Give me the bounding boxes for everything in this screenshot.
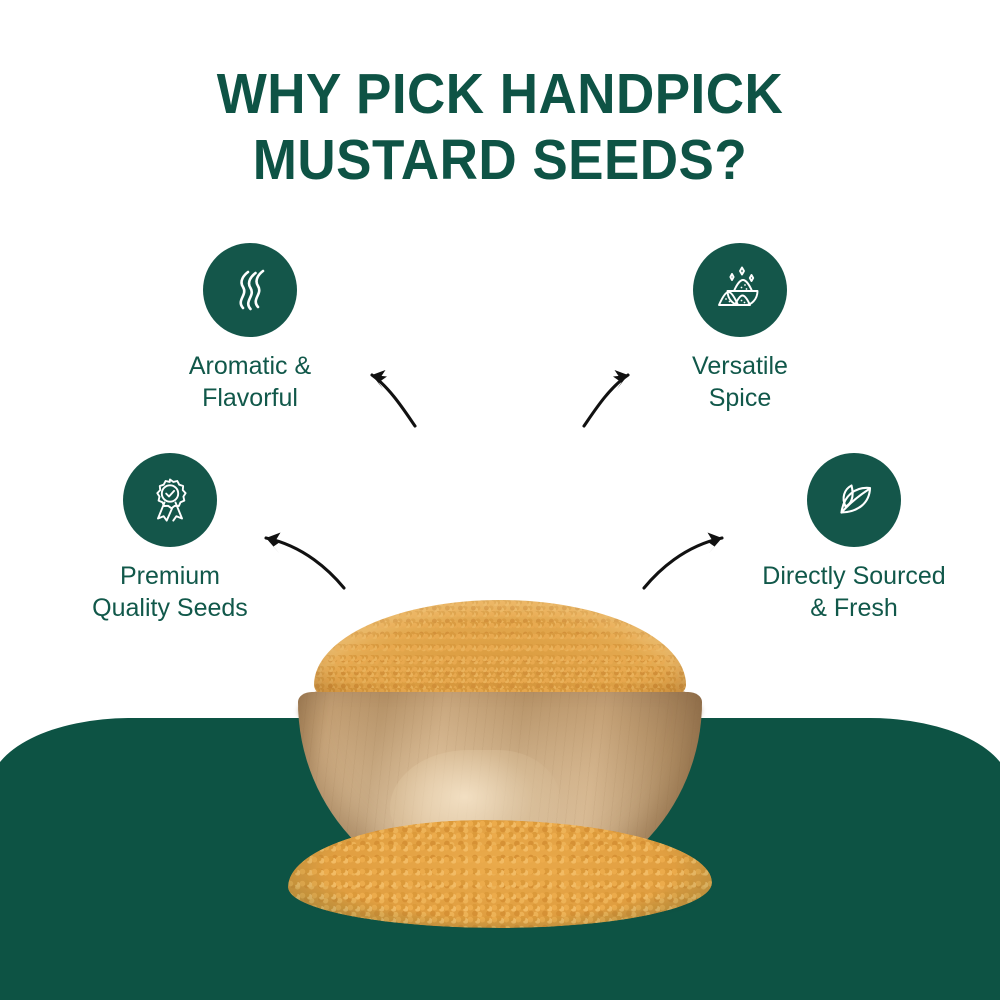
aroma-waves-icon	[224, 264, 276, 316]
feature-icon-badge	[807, 453, 901, 547]
feature-label: Versatile Spice	[620, 350, 860, 414]
feature-versatile-spice[interactable]: Versatile Spice	[620, 243, 860, 414]
feature-label: Directly Sourced & Fresh	[714, 560, 994, 624]
arrow-to-premium-icon	[248, 514, 358, 597]
spice-bowl-icon	[712, 262, 768, 318]
feature-label: Aromatic & Flavorful	[130, 350, 370, 414]
page-title: WHY PICK HANDPICK MUSTARD SEEDS?	[35, 62, 965, 193]
arrow-to-aromatic-icon	[352, 352, 426, 435]
feature-aromatic-flavorful[interactable]: Aromatic & Flavorful	[130, 243, 370, 414]
award-ribbon-icon	[143, 473, 197, 527]
arrow-to-sourced-icon	[630, 514, 740, 597]
leaves-icon	[827, 473, 881, 527]
headline-line-2: MUSTARD SEEDS?	[35, 128, 965, 194]
infographic-canvas: WHY PICK HANDPICK MUSTARD SEEDS? Aromati…	[0, 0, 1000, 1000]
arrow-to-versatile-icon	[572, 352, 648, 435]
feature-icon-badge	[693, 243, 787, 337]
feature-icon-badge	[203, 243, 297, 337]
feature-icon-badge	[123, 453, 217, 547]
headline-line-1: WHY PICK HANDPICK	[217, 62, 784, 126]
feature-directly-sourced-fresh[interactable]: Directly Sourced & Fresh	[714, 453, 994, 624]
